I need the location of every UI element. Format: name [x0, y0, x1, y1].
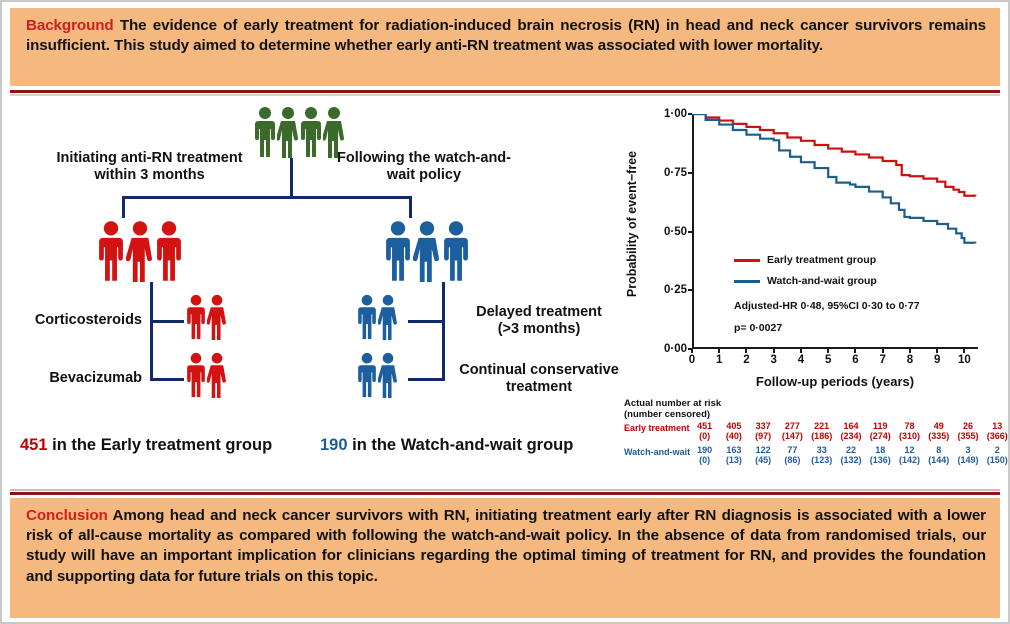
connector-right-vertical [442, 282, 445, 380]
risk-censored-value: (144) [924, 455, 953, 465]
legend-label-wait: Watch-and-wait group [767, 275, 877, 287]
risk-cell: 12(142) [895, 445, 924, 466]
chart-x-tick-label: 2 [743, 354, 749, 366]
conclusion-keyword: Conclusion [26, 507, 108, 524]
risk-table-row: Early treatment451(0)405(40)337(97)277(1… [624, 421, 1010, 445]
risk-at-risk-value: 26 [953, 421, 982, 431]
risk-censored-value: (132) [836, 455, 865, 465]
risk-cell: 33(123) [807, 445, 836, 466]
label-conservative-line2: treatment [506, 379, 572, 395]
risk-censored-value: (147) [778, 431, 807, 441]
label-delayed-line1: Delayed treatment [476, 304, 602, 320]
background-paragraph: Background The evidence of early treatme… [26, 16, 986, 56]
risk-row-cells: 190(0)163(13)122(45)77(86)33(123)22(132)… [690, 445, 1010, 466]
background-keyword: Background [26, 17, 114, 34]
risk-censored-value: (136) [866, 455, 895, 465]
chart-x-tick-label: 3 [771, 354, 777, 366]
chart-y-tick-label: 1·00 [664, 108, 687, 120]
chart-x-tick-label: 10 [958, 354, 971, 366]
kaplan-meier-chart: Probability of event−free 0·000·250·500·… [630, 106, 1008, 396]
risk-title-line1: Actual number at risk [624, 398, 1010, 409]
risk-censored-value: (149) [953, 455, 982, 465]
arm-label-wait-line2: wait policy [387, 167, 461, 183]
chart-x-tick-mark [909, 349, 911, 353]
arm-label-early-line1: Initiating anti-RN treatment [56, 150, 242, 166]
risk-censored-value: (123) [807, 455, 836, 465]
person-icon-blue-sub2b [378, 352, 398, 398]
risk-at-risk-value: 77 [778, 445, 807, 455]
risk-at-risk-value: 190 [690, 445, 719, 455]
risk-cell: 221(186) [807, 421, 836, 442]
risk-cell: 18(136) [866, 445, 895, 466]
risk-at-risk-value: 163 [719, 445, 748, 455]
risk-censored-value: (0) [690, 455, 719, 465]
person-icon-blue-1 [384, 220, 412, 282]
risk-cell: 26(355) [953, 421, 982, 442]
person-icon-red-sub2b [207, 352, 227, 398]
delayed-treatment-people-icon [357, 294, 398, 340]
risk-censored-value: (45) [749, 455, 778, 465]
chart-plot-area: 0·000·250·500·751·00 012345678910 Early … [692, 114, 978, 349]
risk-at-risk-value: 13 [983, 421, 1010, 431]
label-delayed-line2: (>3 months) [498, 321, 581, 337]
label-bevacizumab: Bevacizumab [2, 370, 142, 387]
person-icon-blue-3 [442, 220, 470, 282]
risk-censored-value: (310) [895, 431, 924, 441]
divider-bottom-grey [10, 489, 1000, 491]
conservative-treatment-people-icon [357, 352, 398, 398]
risk-censored-value: (97) [749, 431, 778, 441]
chart-x-tick-mark [827, 349, 829, 353]
risk-cell: 119(274) [866, 421, 895, 442]
label-conservative-treatment: Continual conservative treatment [450, 362, 628, 396]
chart-y-tick-label: 0·50 [664, 226, 687, 238]
risk-table-rows: Early treatment451(0)405(40)337(97)277(1… [624, 421, 1010, 469]
chart-curves [692, 114, 978, 349]
person-icon-red-1 [97, 220, 125, 282]
arm-label-wait-line1: Following the watch-and- [337, 150, 511, 166]
connector-left-sub2 [150, 378, 184, 381]
risk-cell: 277(147) [778, 421, 807, 442]
legend-swatch-early [734, 259, 760, 262]
connector-right-sub1 [408, 320, 445, 323]
person-icon-red-sub1b [207, 294, 227, 340]
chart-x-tick-label: 4 [798, 354, 804, 366]
chart-x-tick-mark [773, 349, 775, 353]
background-text: The evidence of early treatment for radi… [26, 17, 986, 54]
chart-x-tick-label: 0 [689, 354, 695, 366]
person-icon-red-3 [155, 220, 183, 282]
risk-cell: 3(149) [953, 445, 982, 466]
chart-x-tick-mark [936, 349, 938, 353]
risk-censored-value: (186) [807, 431, 836, 441]
person-icon-blue-2 [413, 220, 441, 282]
chart-x-tick-mark [963, 349, 965, 353]
risk-at-risk-value: 22 [836, 445, 865, 455]
risk-censored-value: (274) [866, 431, 895, 441]
risk-table-title: Actual number at risk (number censored) [624, 398, 1010, 421]
risk-censored-value: (366) [983, 431, 1010, 441]
risk-cell: 164(234) [836, 421, 865, 442]
risk-row-cells: 451(0)405(40)337(97)277(147)221(186)164(… [690, 421, 1010, 442]
risk-at-risk-value: 78 [895, 421, 924, 431]
risk-at-risk-value: 8 [924, 445, 953, 455]
early-group-people-icon [97, 220, 183, 282]
chart-y-axis-label: Probability of event−free [625, 151, 639, 297]
risk-table: Actual number at risk (number censored) … [624, 398, 1010, 469]
arm-label-early: Initiating anti-RN treatment within 3 mo… [42, 150, 257, 184]
person-icon-green-2 [277, 106, 299, 158]
chart-x-tick-label: 8 [907, 354, 913, 366]
risk-at-risk-value: 337 [749, 421, 778, 431]
risk-at-risk-value: 277 [778, 421, 807, 431]
risk-table-row: Watch-and-wait190(0)163(13)122(45)77(86)… [624, 445, 1010, 469]
risk-at-risk-value: 33 [807, 445, 836, 455]
risk-title-line2: (number censored) [624, 409, 1010, 420]
risk-at-risk-value: 49 [924, 421, 953, 431]
chart-y-tick-label: 0·25 [664, 284, 687, 296]
person-icon-green-3 [300, 106, 322, 158]
chart-x-tick-mark [745, 349, 747, 353]
risk-at-risk-value: 122 [749, 445, 778, 455]
annotation-hr: Adjusted-HR 0·48, 95%CI 0·30 to 0·77 [734, 300, 920, 312]
corticosteroids-people-icon [186, 294, 227, 340]
summary-wait: 190 in the Watch-and-wait group [320, 436, 573, 455]
risk-at-risk-value: 221 [807, 421, 836, 431]
chart-x-tick-label: 1 [716, 354, 722, 366]
risk-censored-value: (86) [778, 455, 807, 465]
infographic-page: Background The evidence of early treatme… [0, 0, 1010, 624]
chart-x-tick-mark [800, 349, 802, 353]
divider-top-grey [10, 94, 1000, 96]
label-corticosteroids: Corticosteroids [2, 312, 142, 329]
risk-cell: 13(366) [983, 421, 1010, 442]
chart-x-tick-mark [854, 349, 856, 353]
legend-item-early: Early treatment group [734, 254, 876, 266]
chart-x-tick-label: 9 [934, 354, 940, 366]
person-icon-blue-sub1b [378, 294, 398, 340]
divider-top-red [10, 90, 1000, 93]
risk-censored-value: (355) [953, 431, 982, 441]
chart-x-tick-label: 5 [825, 354, 831, 366]
risk-cell: 163(13) [719, 445, 748, 466]
divider-bottom-red [10, 492, 1000, 495]
legend-label-early: Early treatment group [767, 254, 876, 266]
risk-cell: 2(150) [983, 445, 1010, 466]
risk-cell: 405(40) [719, 421, 748, 442]
chart-x-tick-mark [882, 349, 884, 353]
person-icon-red-sub1a [186, 294, 206, 340]
connector-split [122, 196, 412, 199]
person-icon-blue-sub2a [357, 352, 377, 398]
risk-row-label: Watch-and-wait [624, 447, 690, 457]
connector-branch-left [122, 196, 125, 218]
legend-item-wait: Watch-and-wait group [734, 275, 877, 287]
risk-censored-value: (0) [690, 431, 719, 441]
risk-censored-value: (234) [836, 431, 865, 441]
person-icon-blue-sub1a [357, 294, 377, 340]
chart-y-tick-label: 0·00 [664, 343, 687, 355]
risk-at-risk-value: 451 [690, 421, 719, 431]
risk-at-risk-value: 2 [983, 445, 1010, 455]
connector-left-vertical [150, 282, 153, 380]
risk-cell: 22(132) [836, 445, 865, 466]
risk-row-label: Early treatment [624, 423, 690, 433]
risk-cell: 8(144) [924, 445, 953, 466]
risk-cell: 78(310) [895, 421, 924, 442]
risk-at-risk-value: 12 [895, 445, 924, 455]
risk-cell: 49(335) [924, 421, 953, 442]
chart-x-tick-mark [691, 349, 693, 353]
risk-cell: 77(86) [778, 445, 807, 466]
risk-cell: 337(97) [749, 421, 778, 442]
label-delayed-treatment: Delayed treatment (>3 months) [454, 304, 624, 338]
chart-series-line [692, 114, 975, 196]
arm-label-early-line2: within 3 months [94, 167, 204, 183]
chart-x-tick-label: 7 [879, 354, 885, 366]
legend-swatch-wait [734, 280, 760, 283]
summary-wait-count: 190 [320, 436, 348, 454]
bevacizumab-people-icon [186, 352, 227, 398]
risk-censored-value: (150) [983, 455, 1010, 465]
risk-at-risk-value: 3 [953, 445, 982, 455]
conclusion-paragraph: Conclusion Among head and neck cancer su… [26, 506, 986, 587]
summary-early: 451 in the Early treatment group [20, 436, 272, 455]
arm-label-wait: Following the watch-and- wait policy [324, 150, 524, 184]
wait-group-people-icon [384, 220, 470, 282]
connector-branch-right [409, 196, 412, 218]
risk-censored-value: (142) [895, 455, 924, 465]
summary-early-count: 451 [20, 436, 48, 454]
risk-at-risk-value: 164 [836, 421, 865, 431]
person-icon-red-sub2a [186, 352, 206, 398]
risk-at-risk-value: 405 [719, 421, 748, 431]
connector-right-sub2 [408, 378, 445, 381]
risk-censored-value: (40) [719, 431, 748, 441]
risk-at-risk-value: 18 [866, 445, 895, 455]
risk-cell: 451(0) [690, 421, 719, 442]
summary-wait-text: in the Watch-and-wait group [348, 436, 574, 454]
annotation-pvalue: p= 0·0027 [734, 322, 782, 334]
person-icon-red-2 [126, 220, 154, 282]
connector-trunk [290, 158, 293, 198]
risk-censored-value: (13) [719, 455, 748, 465]
risk-cell: 122(45) [749, 445, 778, 466]
risk-censored-value: (335) [924, 431, 953, 441]
chart-y-tick-label: 0·75 [664, 167, 687, 179]
connector-left-sub1 [150, 320, 184, 323]
conclusion-text: Among head and neck cancer survivors wit… [26, 507, 986, 585]
person-icon-green-1 [254, 106, 276, 158]
background-banner: Background The evidence of early treatme… [10, 8, 1000, 86]
label-conservative-line1: Continual conservative [459, 362, 619, 378]
risk-cell: 190(0) [690, 445, 719, 466]
chart-x-tick-label: 6 [852, 354, 858, 366]
chart-x-tick-mark [718, 349, 720, 353]
conclusion-banner: Conclusion Among head and neck cancer su… [10, 498, 1000, 618]
chart-x-axis-label: Follow-up periods (years) [692, 374, 978, 389]
summary-early-text: in the Early treatment group [48, 436, 273, 454]
risk-at-risk-value: 119 [866, 421, 895, 431]
